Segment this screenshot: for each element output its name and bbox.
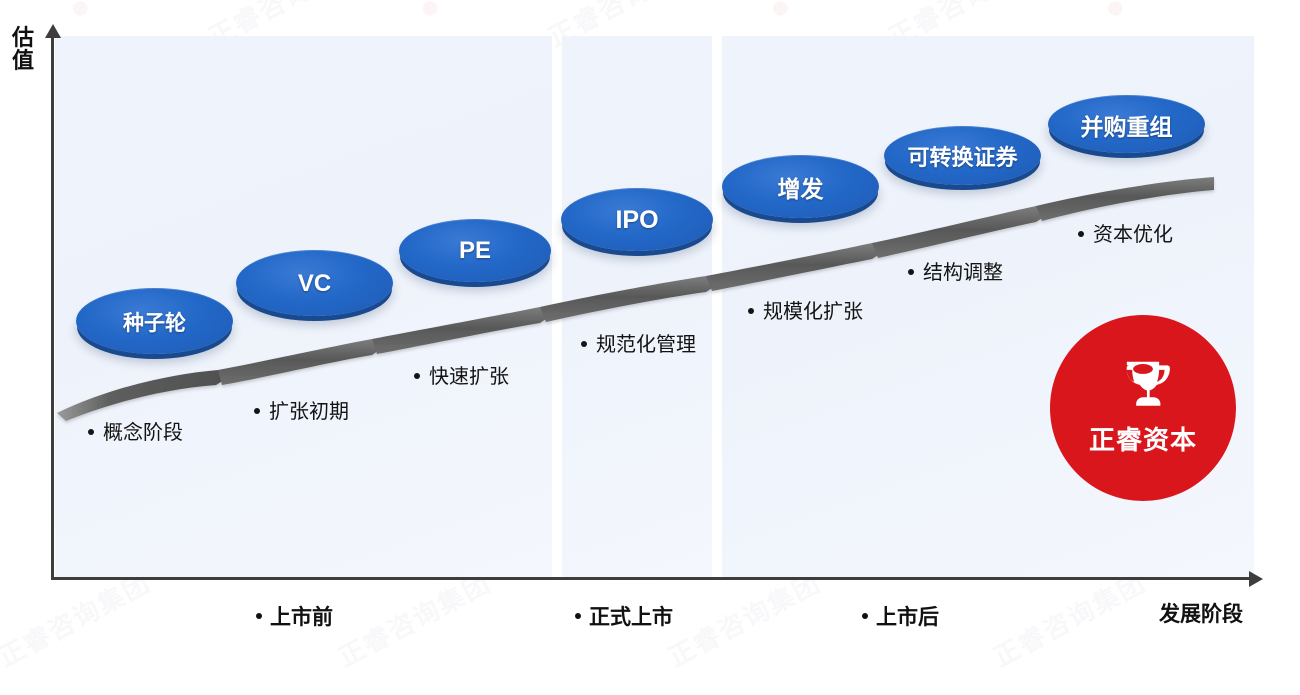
bubble-seed[interactable]: 种子轮 (76, 288, 233, 354)
stage-label-text: 上市前 (270, 606, 333, 629)
bubble-ma[interactable]: 并购重组 (1048, 95, 1205, 153)
y-axis-label: 估值 (12, 26, 46, 72)
bullet-label: 扩张初期 (269, 401, 349, 423)
stage-label-text: 正式上市 (589, 606, 673, 629)
bullet-rapid-expansion: 快速扩张 (414, 360, 509, 389)
bullet-dot (581, 341, 587, 347)
y-axis-arrow-icon (45, 24, 61, 38)
badge-label: 正睿资本 (1089, 420, 1197, 457)
bullet-capital-optimization: 资本优化 (1078, 218, 1173, 247)
bubble-label: 种子轮 (123, 307, 186, 337)
bullet-dot (908, 269, 914, 275)
bullet-label: 资本优化 (1093, 224, 1173, 246)
bullet-dot (748, 308, 754, 314)
x-axis-arrow-icon (1249, 571, 1263, 587)
stage-label-post-ipo: 上市后 (862, 601, 939, 631)
bullet-label: 结构调整 (923, 262, 1003, 284)
stage-dot (256, 613, 262, 619)
y-axis-line (51, 36, 54, 580)
phase-panel-ipo (562, 36, 712, 577)
bullet-concept-stage: 概念阶段 (88, 416, 183, 445)
bubble-issuance[interactable]: 增发 (722, 155, 879, 218)
stage-label-text: 上市后 (876, 606, 939, 629)
bullet-dot (88, 429, 94, 435)
x-axis-line (51, 577, 1254, 580)
bullet-dot (414, 373, 420, 379)
stage-label-ipo: 正式上市 (575, 601, 673, 631)
bubble-label: 增发 (778, 170, 824, 204)
watermark-logo: ● (1105, 0, 1126, 27)
bullet-standardized-management: 规范化管理 (581, 328, 696, 357)
x-axis-label: 发展阶段 (1159, 598, 1243, 628)
stage-dot (575, 613, 581, 619)
bubble-ipo[interactable]: IPO (561, 188, 713, 251)
bullet-scaled-expansion: 规模化扩张 (748, 295, 863, 324)
bullet-label: 概念阶段 (103, 422, 183, 444)
bubble-vc[interactable]: VC (236, 250, 393, 316)
watermark-logo: ● (70, 0, 91, 27)
bullet-dot (1078, 231, 1084, 237)
zhengrui-capital-badge[interactable]: 正睿资本 (1050, 315, 1236, 501)
bullet-label: 快速扩张 (429, 366, 509, 388)
diagram-canvas: 正睿咨询集团 正睿咨询集团 正睿咨询集团 正睿咨询集团 正睿咨询集团 正睿咨询集… (0, 0, 1300, 695)
bubble-label: 可转换证券 (907, 140, 1017, 172)
bullet-label: 规范化管理 (596, 334, 696, 356)
bullet-early-expansion: 扩张初期 (254, 395, 349, 424)
bubble-convertible[interactable]: 可转换证券 (884, 126, 1041, 185)
watermark-logo: ● (420, 0, 441, 27)
bubble-label: 并购重组 (1081, 108, 1173, 142)
watermark-logo: ● (770, 0, 791, 27)
bullet-structural-adjustment: 结构调整 (908, 256, 1003, 285)
bubble-label: VC (298, 270, 331, 298)
bullet-label: 规模化扩张 (763, 301, 863, 323)
bubble-label: IPO (615, 206, 658, 235)
bubble-pe[interactable]: PE (399, 219, 551, 282)
trophy-icon (1114, 360, 1172, 412)
stage-dot (862, 613, 868, 619)
bubble-label: PE (459, 237, 491, 265)
bullet-dot (254, 408, 260, 414)
stage-label-pre-ipo: 上市前 (256, 601, 333, 631)
